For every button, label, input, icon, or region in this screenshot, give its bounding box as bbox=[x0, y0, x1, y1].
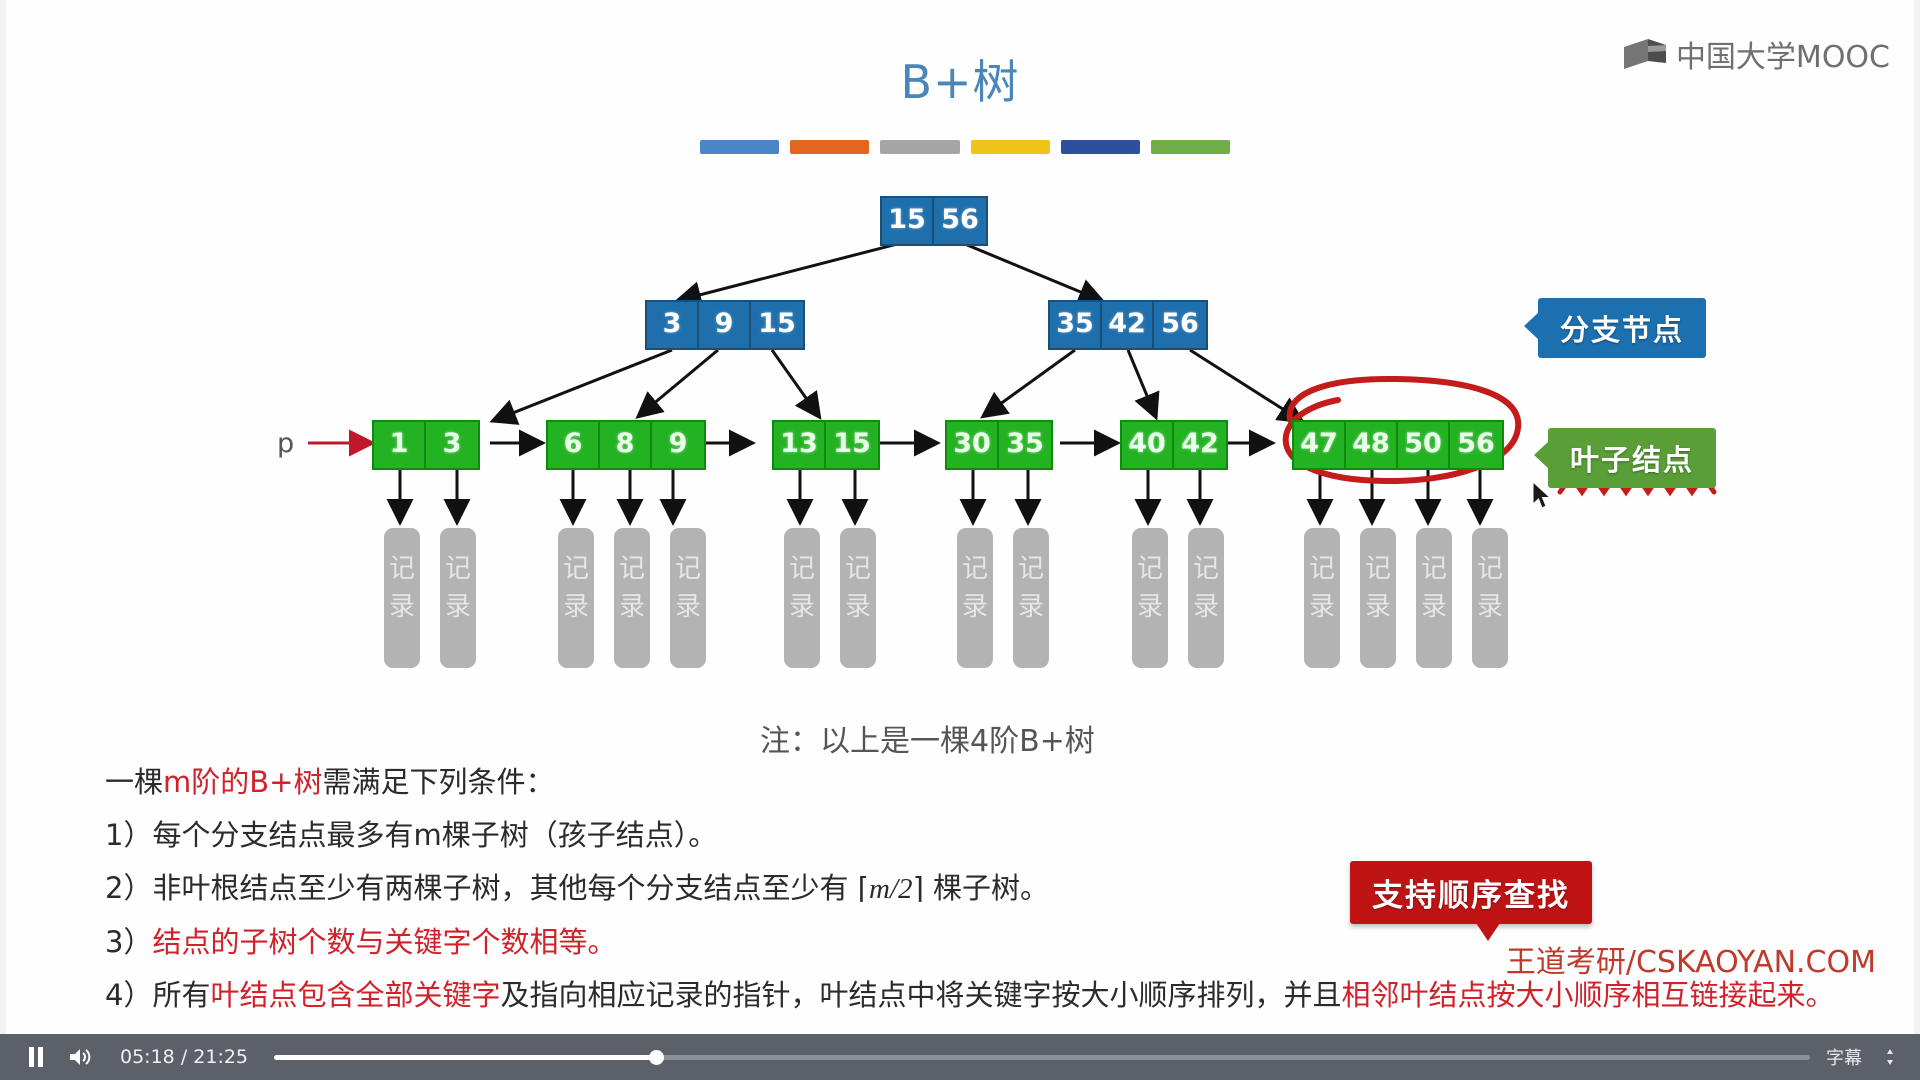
branch-key-cell[interactable]: 15 bbox=[751, 302, 803, 348]
btree-leaf-node-5[interactable]: 4042 bbox=[1120, 420, 1228, 470]
intro-red: m阶的B+树 bbox=[163, 765, 322, 799]
item2-num: 2） bbox=[105, 871, 152, 905]
leaf-key-cell[interactable]: 35 bbox=[999, 422, 1051, 468]
leaf-key-cell[interactable]: 48 bbox=[1346, 422, 1398, 468]
item4-mid: 及指向相应记录的指针，叶结点中将关键字按大小顺序排列，并且 bbox=[500, 978, 1341, 1012]
record-box: 记录 bbox=[957, 528, 993, 668]
record-box: 记录 bbox=[1416, 528, 1452, 668]
player-right-controls: 字幕 bbox=[1826, 1044, 1906, 1070]
conditions-list: 一棵m阶的B+树需满足下列条件： 1）每个分支结点最多有m棵子树（孩子结点）。 … bbox=[105, 760, 1905, 1026]
branch-key-cell[interactable]: 9 bbox=[699, 302, 751, 348]
item1-text: 每个分支结点最多有m棵子树（孩子结点）。 bbox=[152, 818, 717, 852]
branch-key-cell[interactable]: 35 bbox=[1050, 302, 1102, 348]
btree-diagram: 1556 3915 354256 13 689 1315 3035 4042 4… bbox=[0, 0, 1920, 740]
record-box: 记录 bbox=[1360, 528, 1396, 668]
leaf-key-cell[interactable]: 40 bbox=[1122, 422, 1174, 468]
seek-bar[interactable] bbox=[274, 1055, 1810, 1060]
leaf-key-cell[interactable]: 50 bbox=[1398, 422, 1450, 468]
record-box: 记录 bbox=[1304, 528, 1340, 668]
diagram-note: 注：以上是一棵4阶B+树 bbox=[760, 716, 1095, 760]
root-key-cell[interactable]: 15 bbox=[882, 198, 934, 244]
btree-leaf-node-1[interactable]: 13 bbox=[372, 420, 480, 470]
quality-icon[interactable] bbox=[1880, 1047, 1900, 1067]
item3-red: 结点的子树个数与关键字个数相等。 bbox=[152, 925, 616, 959]
watermark-text: 王道考研/CSKAOYAN.COM bbox=[1506, 937, 1876, 981]
record-box: 记录 bbox=[558, 528, 594, 668]
intro-pre: 一棵 bbox=[105, 765, 163, 799]
leaf-key-cell[interactable]: 47 bbox=[1294, 422, 1346, 468]
slide-canvas: B+树 中国大学MOOC bbox=[0, 0, 1920, 1035]
item2-post: ⌉ 棵子树。 bbox=[913, 871, 1050, 905]
seek-progress bbox=[274, 1055, 656, 1060]
btree-leaf-node-4[interactable]: 3035 bbox=[945, 420, 1053, 470]
leaf-key-cell[interactable]: 56 bbox=[1450, 422, 1502, 468]
record-box: 记录 bbox=[1013, 528, 1049, 668]
branch-key-cell[interactable]: 3 bbox=[647, 302, 699, 348]
item4-num: 4） bbox=[105, 978, 152, 1012]
video-player-screen: B+树 中国大学MOOC bbox=[0, 0, 1920, 1080]
conditions-intro: 一棵m阶的B+树需满足下列条件： bbox=[105, 760, 1905, 804]
btree-root-node[interactable]: 1556 bbox=[880, 196, 988, 246]
record-box: 记录 bbox=[614, 528, 650, 668]
pointer-p-label: p bbox=[277, 428, 294, 459]
video-player-controls: 05:18 / 21:25 字幕 bbox=[0, 1034, 1920, 1080]
total-time: 21:25 bbox=[193, 1046, 248, 1068]
btree-branch-node-right[interactable]: 354256 bbox=[1048, 300, 1208, 350]
record-box: 记录 bbox=[840, 528, 876, 668]
time-separator: / bbox=[181, 1046, 187, 1068]
current-time: 05:18 bbox=[120, 1046, 175, 1068]
item4-red-b: 相邻叶结点按大小顺序相互链接起来。 bbox=[1342, 978, 1835, 1012]
item2-fraction: m/2 bbox=[869, 873, 913, 905]
branch-key-cell[interactable]: 56 bbox=[1154, 302, 1206, 348]
btree-leaf-node-2[interactable]: 689 bbox=[546, 420, 706, 470]
record-box: 记录 bbox=[440, 528, 476, 668]
time-display: 05:18 / 21:25 bbox=[120, 1046, 248, 1068]
leaf-key-cell[interactable]: 8 bbox=[600, 422, 652, 468]
item1-num: 1） bbox=[105, 818, 152, 852]
leaf-key-cell[interactable]: 30 bbox=[947, 422, 999, 468]
record-box: 记录 bbox=[1472, 528, 1508, 668]
record-box: 记录 bbox=[1188, 528, 1224, 668]
item3-num: 3） bbox=[105, 925, 152, 959]
condition-item-2: 2）非叶根结点至少有两棵子树，其他每个分支结点至少有 ⌈m/2⌉ 棵子树。 bbox=[105, 866, 1905, 911]
leaf-key-cell[interactable]: 13 bbox=[774, 422, 826, 468]
record-box: 记录 bbox=[670, 528, 706, 668]
btree-branch-node-left[interactable]: 3915 bbox=[645, 300, 805, 350]
callout-branch-node: 分支节点 bbox=[1538, 298, 1706, 358]
item4-pre: 所有 bbox=[152, 978, 210, 1012]
root-key-cell[interactable]: 56 bbox=[934, 198, 986, 244]
leaf-key-cell[interactable]: 15 bbox=[826, 422, 878, 468]
item4-red-a: 叶结点包含全部关键字 bbox=[210, 978, 500, 1012]
leaf-key-cell[interactable]: 6 bbox=[548, 422, 600, 468]
record-box: 记录 bbox=[784, 528, 820, 668]
leaf-key-cell[interactable]: 3 bbox=[426, 422, 478, 468]
seek-handle[interactable] bbox=[649, 1050, 664, 1065]
btree-leaf-node-6[interactable]: 47485056 bbox=[1292, 420, 1504, 470]
item2-pre: 非叶根结点至少有两棵子树，其他每个分支结点至少有 ⌈ bbox=[152, 871, 869, 905]
leaf-key-cell[interactable]: 9 bbox=[652, 422, 704, 468]
branch-key-cell[interactable]: 42 bbox=[1102, 302, 1154, 348]
pause-button[interactable] bbox=[14, 1034, 58, 1080]
leaf-key-cell[interactable]: 42 bbox=[1174, 422, 1226, 468]
record-box: 记录 bbox=[1132, 528, 1168, 668]
volume-button[interactable] bbox=[58, 1034, 102, 1080]
intro-post: 需满足下列条件： bbox=[322, 765, 554, 799]
btree-leaf-node-3[interactable]: 1315 bbox=[772, 420, 880, 470]
subtitle-button[interactable]: 字幕 bbox=[1826, 1044, 1862, 1070]
condition-item-1: 1）每个分支结点最多有m棵子树（孩子结点）。 bbox=[105, 813, 1905, 857]
callout-leaf-node: 叶子结点 bbox=[1548, 428, 1716, 488]
record-box: 记录 bbox=[384, 528, 420, 668]
leaf-key-cell[interactable]: 1 bbox=[374, 422, 426, 468]
